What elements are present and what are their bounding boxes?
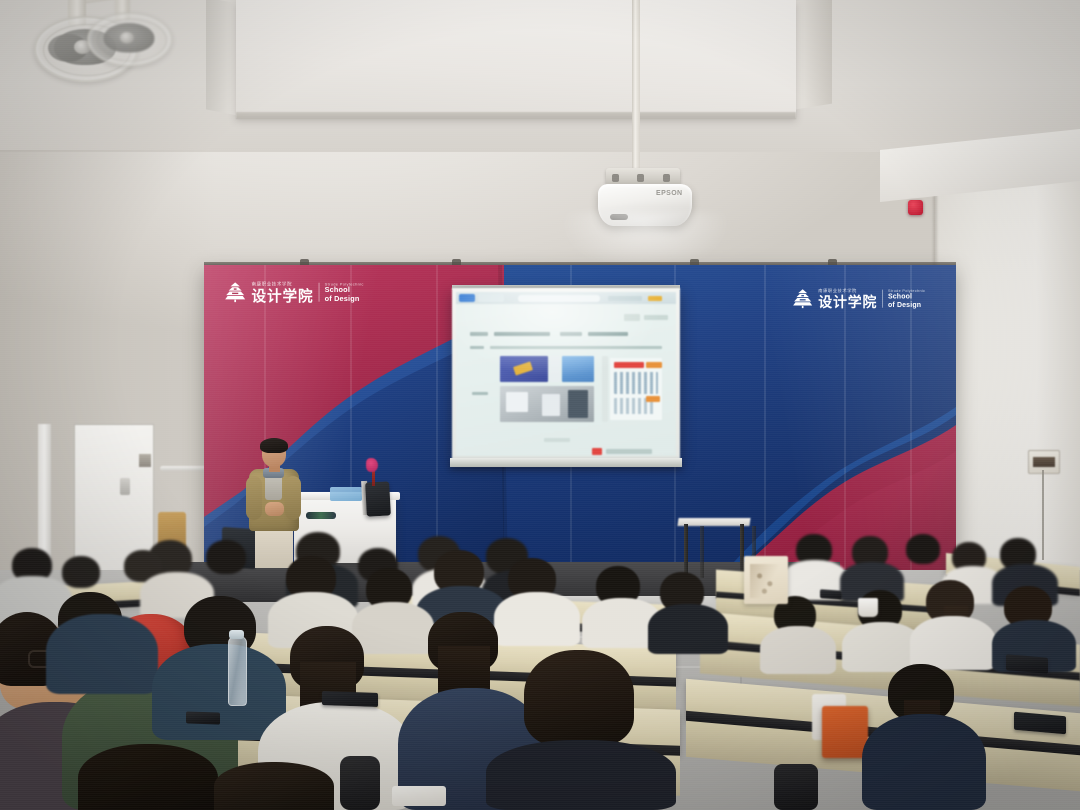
- water-bottle: [228, 636, 247, 706]
- tablet-device[interactable]: [322, 691, 378, 707]
- smartphone[interactable]: [820, 589, 842, 600]
- page-heading-meta: [588, 332, 628, 336]
- presenter-arm-left: [246, 476, 262, 520]
- logo-en-line2: of Design: [888, 301, 925, 309]
- student-shoulders: [862, 714, 986, 810]
- notebook: [392, 786, 446, 806]
- student-head-foreground: [214, 762, 334, 810]
- page-footer-note: [544, 438, 570, 442]
- chart-axis: [602, 356, 608, 422]
- student-shoulders: [910, 616, 996, 670]
- chart-highlight-bar: [614, 362, 644, 368]
- student-head: [906, 534, 940, 564]
- mic-flag: [366, 458, 378, 472]
- browser-tab-active[interactable]: [459, 294, 475, 302]
- browser-badge: [648, 296, 662, 301]
- screen-content-page: [456, 292, 676, 456]
- page-heading-value: [494, 332, 550, 336]
- presenter-hair: [260, 438, 288, 453]
- ceiling-beam-left-face: [206, 0, 240, 116]
- browser-menu-items[interactable]: [608, 296, 642, 301]
- banner-logo-en-block: Strude Polytechnic School of Design: [888, 289, 925, 308]
- page-heading-tag: [560, 332, 582, 336]
- presenter-legs: [255, 528, 293, 568]
- footer-action-icon[interactable]: [592, 448, 602, 455]
- browser-address-bar[interactable]: [518, 295, 600, 302]
- wall-fan-left-rear: [81, 0, 178, 70]
- filter-label: [470, 346, 484, 349]
- banner-logo-left: 南康职业技术学院 设计学院 Strude Polytechnic School …: [224, 281, 364, 303]
- door-handle[interactable]: [120, 478, 130, 495]
- student-shoulders: [46, 614, 158, 694]
- logo-cn-name: 设计学院: [252, 289, 314, 304]
- ceiling-beam-edge: [236, 112, 796, 119]
- projector-mount-pole: [632, 0, 640, 180]
- smartphone[interactable]: [186, 711, 220, 724]
- wall-switch-panel[interactable]: [139, 454, 151, 467]
- student-shoulders: [648, 604, 728, 654]
- banner-logo-right: 南康职业技术学院 设计学院 Strude Polytechnic School …: [792, 288, 925, 309]
- section-label: [472, 392, 488, 395]
- filter-row[interactable]: [490, 346, 662, 349]
- student-shoulders: [760, 626, 836, 674]
- bracket-bolt: [612, 174, 619, 182]
- fan-hub: [120, 32, 134, 43]
- patterned-tote-bag: [744, 556, 788, 604]
- ceiling-beam-right-face: [792, 0, 832, 110]
- electrical-panel-box[interactable]: [1028, 450, 1060, 474]
- chair-back: [774, 764, 818, 810]
- logo-cn-supertitle: 南康职业技术学院: [818, 288, 877, 294]
- student-shoulders: [152, 644, 286, 740]
- chair-back: [340, 756, 380, 810]
- bracket-bolt: [663, 174, 670, 182]
- orange-backpack: [822, 706, 868, 758]
- projection-screen: [452, 288, 680, 460]
- banner-logo-en-block: Strude Polytechnic School of Design: [325, 282, 364, 302]
- logo-cn-supertitle: 南康职业技术学院: [252, 281, 314, 287]
- projector-brand-label: EPSON: [656, 190, 683, 197]
- right-wall-pillar: [935, 150, 1080, 570]
- page-toolbar-button[interactable]: [624, 314, 640, 321]
- bracket-bolt: [637, 174, 644, 182]
- fire-alarm-icon: [908, 200, 923, 215]
- student-head-foreground: [78, 744, 218, 810]
- lectern-blue-tray: [330, 487, 362, 501]
- thumbnail-image[interactable]: [562, 356, 594, 382]
- student-shoulders: [486, 740, 676, 810]
- student-head: [206, 540, 246, 574]
- chart-legend-chip: [646, 396, 660, 402]
- logo-cn-name: 设计学院: [818, 295, 877, 309]
- screen-bottom-weight-bar: [450, 458, 682, 467]
- lectern-monitor[interactable]: [365, 481, 391, 516]
- thumbnail-inset-dark: [568, 390, 588, 418]
- stacked-mountain-logo-icon: [224, 281, 246, 303]
- presenter-arm-right: [285, 476, 301, 520]
- thumbnail-inset: [542, 394, 560, 416]
- student-shoulders: [352, 602, 434, 654]
- water-bottle-cap: [229, 630, 244, 639]
- banner-logo-cn-block: 南康职业技术学院 设计学院: [252, 281, 314, 303]
- stacked-mountain-logo-icon: [792, 288, 813, 309]
- chart-bars: [614, 372, 658, 394]
- banner-logo-cn-block: 南康职业技术学院 设计学院: [818, 288, 877, 309]
- student-head-curly: [524, 650, 634, 746]
- thumbnail-inset: [506, 392, 528, 412]
- lectern-items: [306, 512, 336, 519]
- ceiling-beam: [236, 0, 796, 118]
- lecture-hall-photo: EPSON: [0, 0, 1080, 810]
- logo-en-line2: of Design: [325, 294, 364, 302]
- page-toolbar-label: [644, 315, 668, 320]
- page-heading-label: [470, 332, 488, 336]
- paper-cup: [858, 598, 878, 617]
- logo-divider: [319, 283, 320, 302]
- panel-wire: [1042, 470, 1044, 560]
- student-shoulders: [494, 592, 580, 646]
- thumbnail-divider: [550, 356, 560, 382]
- presenter-hands: [265, 502, 284, 516]
- browser-tab[interactable]: [478, 294, 504, 302]
- side-table-leg: [700, 526, 704, 578]
- logo-divider: [882, 290, 883, 308]
- chart-highlight-bar: [646, 362, 662, 368]
- footer-toolbar[interactable]: [606, 449, 652, 454]
